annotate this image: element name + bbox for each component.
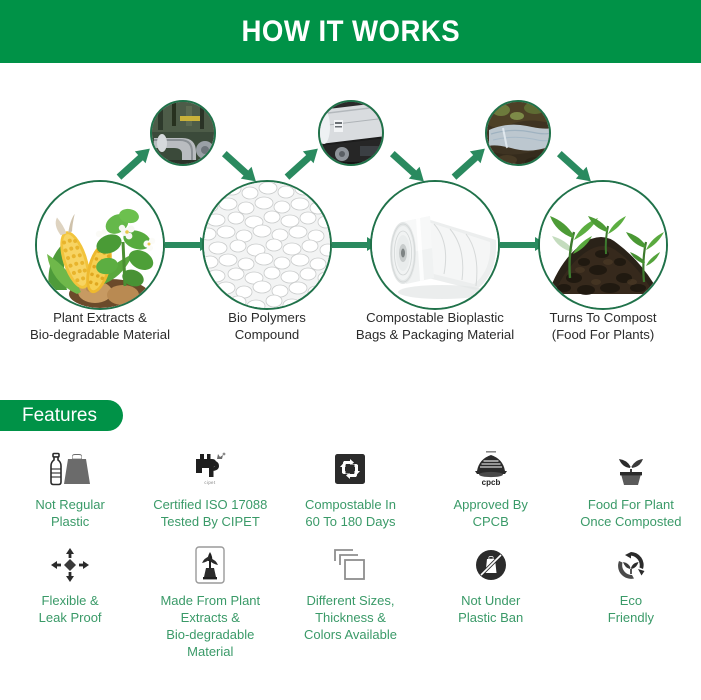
step2-label-line1: Bio Polymers bbox=[192, 309, 342, 326]
step-bio-polymers-label: Bio Polymers Compound bbox=[192, 309, 342, 343]
plant-in-frame-icon bbox=[195, 544, 225, 586]
svg-text:cipet: cipet bbox=[205, 480, 217, 485]
feature-different-sizes[interactable]: Different Sizes, Thickness & Colors Avai… bbox=[280, 544, 420, 660]
step-turns-to-compost-circle bbox=[538, 180, 668, 310]
step3-label-line2: Bags & Packaging Material bbox=[345, 326, 525, 343]
feature-label: Eco Friendly bbox=[604, 592, 658, 626]
feature-label: Made From Plant Extracts & Bio-degradabl… bbox=[156, 592, 264, 660]
step-compostable-bioplastic-label: Compostable Bioplastic Bags & Packaging … bbox=[345, 309, 525, 343]
four-direction-arrows-icon bbox=[50, 544, 90, 586]
feature-label: Flexible & Leak Proof bbox=[35, 592, 106, 626]
compost-soil-seedlings-photo bbox=[540, 182, 668, 310]
feature-label: Different Sizes, Thickness & Colors Avai… bbox=[300, 592, 401, 643]
no-plastic-bag-circle-icon bbox=[475, 544, 507, 586]
feature-label: Certified ISO 17088 Tested By CIPET bbox=[149, 496, 271, 530]
arrow-step2-to-filmblowing bbox=[282, 142, 324, 182]
industrial-piping-machinery-photo bbox=[152, 102, 216, 166]
feature-label: Approved By CPCB bbox=[449, 496, 531, 530]
compostable-recycle-square-icon bbox=[334, 448, 366, 490]
features-badge-label: Features bbox=[22, 405, 97, 427]
stacked-squares-icon bbox=[331, 544, 369, 586]
svg-text:cpcb: cpcb bbox=[481, 478, 500, 487]
features-grid: Not Regular Plastic cipet Certified ISO … bbox=[0, 448, 701, 660]
step1-label-line2: Bio-degradable Material bbox=[5, 326, 195, 343]
step3-label-line1: Compostable Bioplastic bbox=[345, 309, 525, 326]
feature-approved-by-cpcb[interactable]: cpcb Approved By CPCB bbox=[421, 448, 561, 530]
feature-certified-iso-17088[interactable]: cipet Certified ISO 17088 Tested By CIPE… bbox=[140, 448, 280, 530]
process-flow-section: Plant Extracts & Bio-degradable Material bbox=[0, 63, 701, 373]
bioplastic-bag-buried-in-soil-photo bbox=[487, 102, 551, 166]
white-resin-pellets-photo bbox=[204, 182, 332, 310]
film-blowing-roller-machine-photo bbox=[320, 102, 384, 166]
potted-plant-icon bbox=[613, 448, 649, 490]
step2-label-line2: Compound bbox=[192, 326, 342, 343]
node-extrusion-machinery bbox=[150, 100, 216, 166]
step4-label-line1: Turns To Compost bbox=[528, 309, 678, 326]
feature-compostable-days[interactable]: Compostable In 60 To 180 Days bbox=[280, 448, 420, 530]
feature-not-regular-plastic[interactable]: Not Regular Plastic bbox=[0, 448, 140, 530]
page-title: HOW IT WORKS bbox=[241, 15, 460, 49]
step1-label-line1: Plant Extracts & bbox=[5, 309, 195, 326]
eco-recycle-leaf-icon bbox=[614, 544, 648, 586]
step-compostable-bioplastic-circle bbox=[370, 180, 500, 310]
feature-flexible-leak-proof[interactable]: Flexible & Leak Proof bbox=[0, 544, 140, 660]
feature-label: Food For Plant Once Composted bbox=[576, 496, 685, 530]
step4-label-line2: (Food For Plants) bbox=[528, 326, 678, 343]
cpcb-logo-icon: cpcb bbox=[471, 448, 511, 490]
node-film-blowing-machine bbox=[318, 100, 384, 166]
feature-food-for-plant[interactable]: Food For Plant Once Composted bbox=[561, 448, 701, 530]
step-plant-extracts-circle bbox=[35, 180, 165, 310]
feature-eco-friendly[interactable]: Eco Friendly bbox=[561, 544, 701, 660]
feature-label: Compostable In 60 To 180 Days bbox=[301, 496, 400, 530]
feature-label: Not Under Plastic Ban bbox=[454, 592, 527, 626]
cipet-logo-icon: cipet bbox=[185, 448, 235, 490]
step-bio-polymers-circle bbox=[202, 180, 332, 310]
plastic-film-roll-photo bbox=[372, 182, 500, 310]
arrow-step1-to-machinery bbox=[114, 142, 156, 182]
feature-made-from-plant-extracts[interactable]: Made From Plant Extracts & Bio-degradabl… bbox=[140, 544, 280, 660]
feature-label: Not Regular Plastic bbox=[31, 496, 108, 530]
header-band: HOW IT WORKS bbox=[0, 0, 701, 63]
features-badge: Features bbox=[0, 400, 123, 431]
step-plant-extracts-label: Plant Extracts & Bio-degradable Material bbox=[5, 309, 195, 343]
arrow-step3-to-baginsoil bbox=[449, 142, 491, 182]
node-bag-in-soil bbox=[485, 100, 551, 166]
corn-potato-plants-photo bbox=[37, 182, 165, 310]
bottle-and-plastic-bag-icon bbox=[46, 448, 94, 490]
feature-not-under-plastic-ban[interactable]: Not Under Plastic Ban bbox=[421, 544, 561, 660]
step-turns-to-compost-label: Turns To Compost (Food For Plants) bbox=[528, 309, 678, 343]
